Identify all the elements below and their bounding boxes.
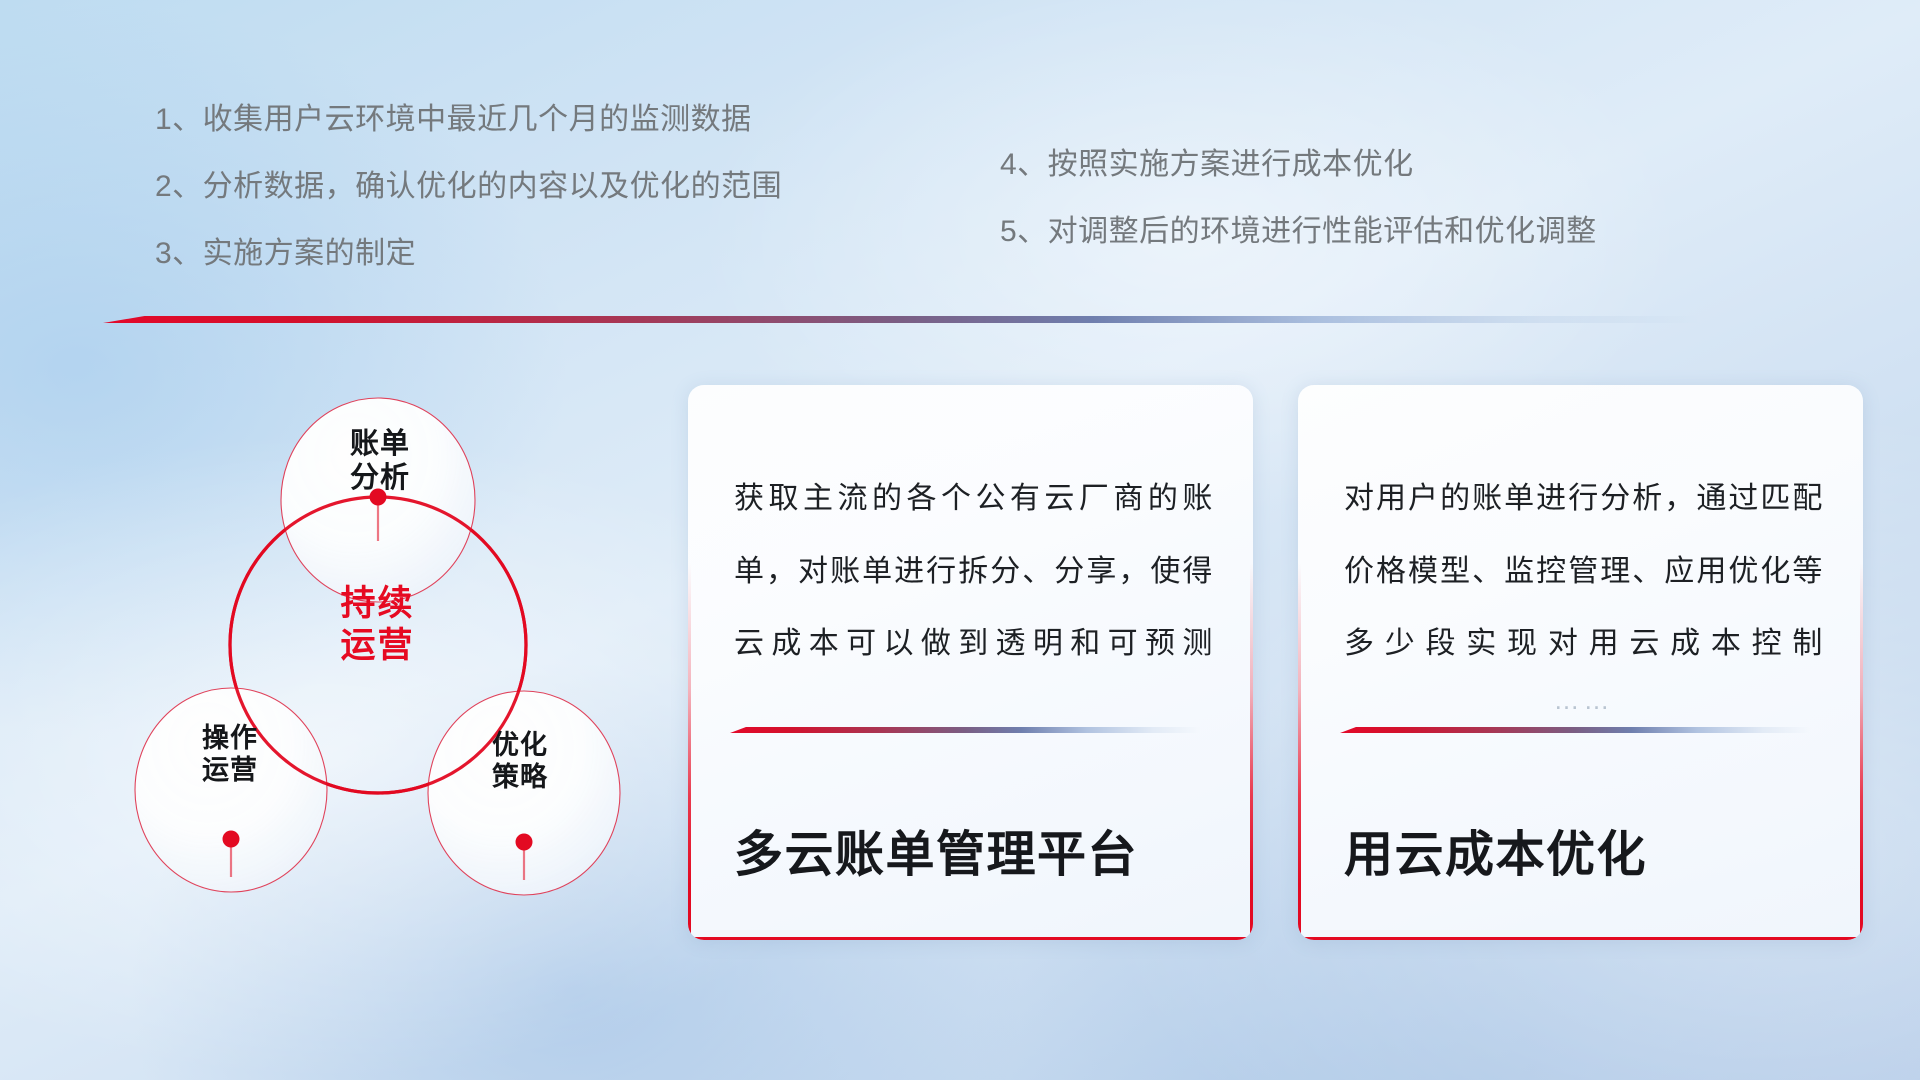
card-ellipsis-1	[734, 685, 1213, 715]
node-dot-left	[223, 831, 240, 848]
node-dot-right	[516, 834, 533, 851]
card-description-1: 获取主流的各个公有云厂商的账单，对账单进行拆分、分享，使得云成本可以做到透明和可…	[734, 463, 1213, 681]
card-description-2: 对用户的账单进行分析，通过匹配价格模型、监控管理、应用优化等多少段实现对用云成本…	[1344, 463, 1823, 681]
card-left-accent-border	[688, 385, 691, 940]
card-right-accent-border	[1250, 385, 1253, 940]
process-step-1: 1、收集用户云环境中最近几个月的监测数据	[155, 105, 782, 135]
card-bottom-accent-border	[688, 937, 1253, 940]
card-title-1: 多云账单管理平台	[734, 815, 1138, 886]
process-steps-right-column: 4、按照实施方案进行成本优化 5、对调整后的环境进行性能评估和优化调整	[1000, 150, 1597, 284]
process-step-3: 3、实施方案的制定	[155, 239, 782, 269]
card-bottom-accent-border	[1298, 937, 1863, 940]
card-divider-1	[730, 727, 1200, 733]
node-dot-top	[370, 489, 387, 506]
card-body-2: 对用户的账单进行分析，通过匹配价格模型、监控管理、应用优化等多少段实现对用云成本…	[1344, 463, 1823, 715]
card-divider-2	[1340, 727, 1810, 733]
card-left-accent-border	[1298, 385, 1301, 940]
card-title-2: 用云成本优化	[1344, 815, 1647, 886]
process-step-4: 4、按照实施方案进行成本优化	[1000, 150, 1597, 180]
slide-canvas: 1、收集用户云环境中最近几个月的监测数据 2、分析数据，确认优化的内容以及优化的…	[0, 0, 1920, 1080]
section-divider	[103, 316, 1699, 323]
card-ellipsis-2: ……	[1344, 685, 1823, 715]
feature-card-multi-cloud-bill-platform[interactable]: 获取主流的各个公有云厂商的账单，对账单进行拆分、分享，使得云成本可以做到透明和可…	[688, 385, 1253, 940]
process-step-2: 2、分析数据，确认优化的内容以及优化的范围	[155, 172, 782, 202]
feature-card-cloud-cost-optimization[interactable]: 对用户的账单进行分析，通过匹配价格模型、监控管理、应用优化等多少段实现对用云成本…	[1298, 385, 1863, 940]
process-step-5: 5、对调整后的环境进行性能评估和优化调整	[1000, 217, 1597, 247]
continuous-operation-diagram: 账单 分析 操作 运营 优化 策略 持续 运营	[100, 345, 640, 965]
card-right-accent-border	[1860, 385, 1863, 940]
card-body-1: 获取主流的各个公有云厂商的账单，对账单进行拆分、分享，使得云成本可以做到透明和可…	[734, 463, 1213, 715]
process-steps-left-column: 1、收集用户云环境中最近几个月的监测数据 2、分析数据，确认优化的内容以及优化的…	[155, 105, 782, 306]
